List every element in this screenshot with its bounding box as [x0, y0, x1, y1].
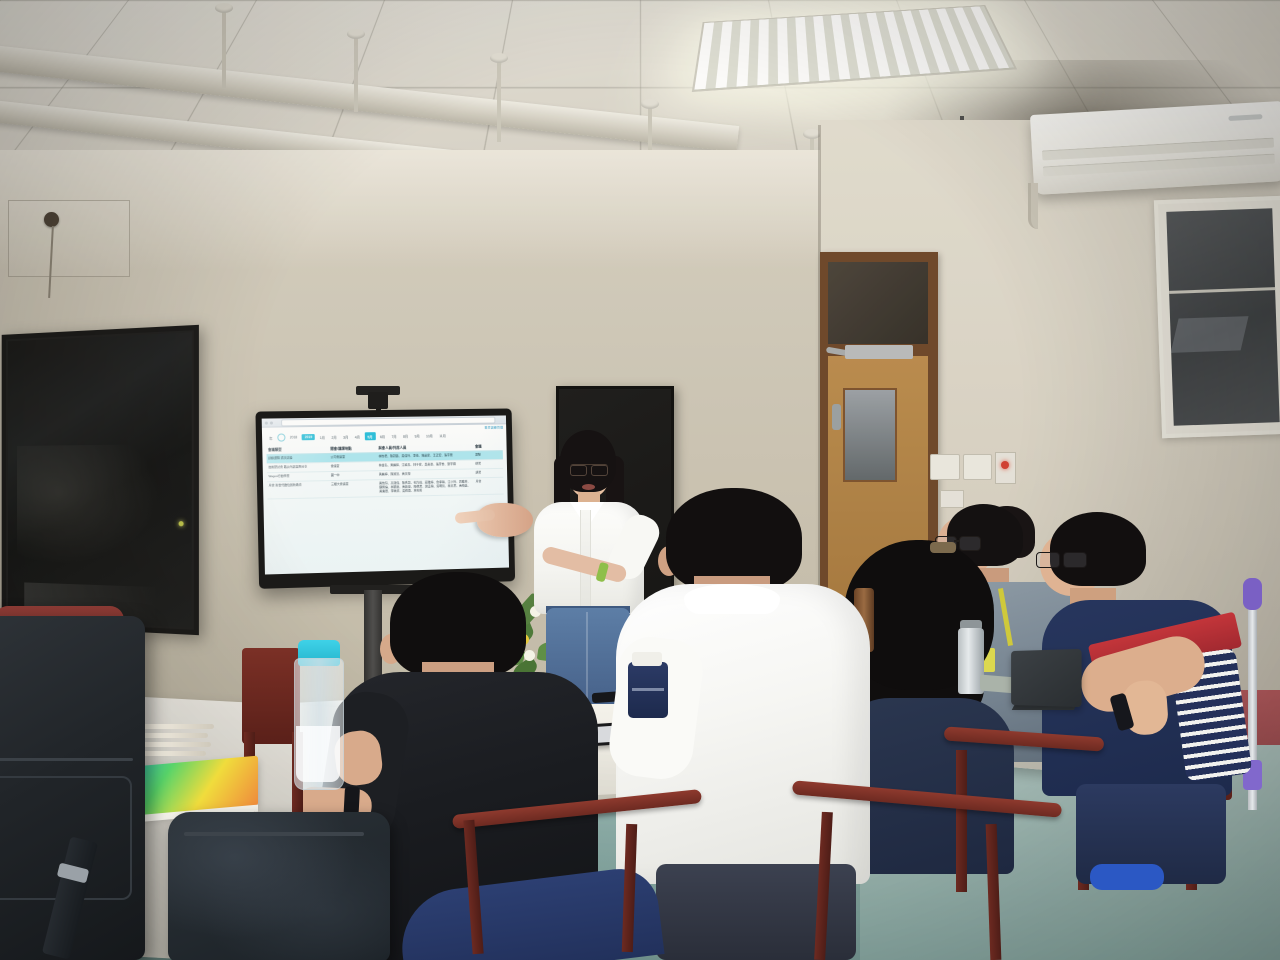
nav-prev-label[interactable]: 年 — [267, 434, 275, 441]
screen-content: 教育訓練管理 年 2018 2019 1月 2月 3月 4月 5月 6月 7月 … — [262, 415, 509, 574]
browser-control-dot — [265, 421, 268, 424]
month-tab-10[interactable]: 10月 — [424, 432, 435, 439]
bag-camouflage[interactable] — [168, 812, 390, 960]
hair-clip — [930, 542, 956, 553]
door-handle[interactable] — [832, 404, 841, 430]
shirt-collar — [684, 584, 780, 614]
month-tab-6[interactable]: 6月 — [378, 432, 387, 439]
cell-attendees: 黃怡瑄、高建偉、陳秀慧、何乃瑜、莊雅婷、詹承翰、江小玲、周雅芬、蘇佩倫、林穎嘉、… — [378, 478, 475, 497]
month-tab-9[interactable]: 9月 — [412, 432, 421, 439]
month-tab-2[interactable]: 2月 — [329, 433, 338, 440]
month-tab-selected[interactable]: 5月 — [364, 432, 375, 440]
month-tab-8[interactable]: 8月 — [401, 432, 410, 439]
light-switch[interactable] — [963, 454, 993, 480]
wall-knob — [44, 212, 59, 227]
chair[interactable] — [792, 776, 1072, 960]
glasses-icon — [570, 464, 608, 474]
left-tv-display[interactable] — [2, 325, 199, 635]
power-led-icon — [179, 521, 184, 526]
month-tab-3[interactable]: 3月 — [341, 433, 350, 440]
browser-control-dot — [270, 421, 273, 424]
light-switch-panel[interactable] — [930, 454, 992, 480]
wall-access-panel — [8, 200, 130, 277]
door-window — [843, 388, 897, 482]
switch-with-indicator[interactable] — [995, 452, 1016, 484]
presenter-hair — [560, 430, 616, 492]
col-header-category: 會議 — [473, 441, 502, 451]
month-tab-1[interactable]: 1月 — [318, 433, 327, 440]
month-tab-7[interactable]: 7月 — [389, 432, 398, 439]
year-tab-selected[interactable]: 2019 — [302, 434, 316, 441]
ac-pipe — [1028, 183, 1038, 229]
cell-meeting-type: 月會 新世代數位創新教育 — [267, 480, 330, 498]
hair — [1050, 512, 1146, 586]
month-tab-11[interactable]: 11月 — [437, 432, 448, 439]
indicator-light — [1001, 461, 1009, 469]
ceiling-hanger — [497, 60, 501, 142]
meeting-schedule-table: 會議類型 開會/講課地點 與會人員/列席人員 會議 訓練課程 週次討論 公司會議… — [266, 441, 503, 499]
ceiling-hanger — [354, 36, 358, 112]
table-row[interactable]: 月會 新世代數位創新教育 三樓大會議室 黃怡瑄、高建偉、陳秀慧、何乃瑜、莊雅婷、… — [267, 477, 504, 499]
glasses-icon — [1036, 552, 1088, 566]
presenter-pointing-hand — [455, 497, 533, 543]
calendar-icon[interactable] — [277, 433, 285, 441]
presenter-mouth — [582, 484, 595, 490]
pencil-pouch[interactable] — [628, 662, 668, 718]
cell-location: 三樓大會議室 — [329, 479, 377, 497]
ceiling-hanger — [222, 10, 226, 88]
air-conditioner — [1030, 101, 1280, 195]
chair[interactable] — [452, 790, 712, 960]
page-module-title: 教育訓練管理 — [485, 425, 504, 429]
mop-grip — [1243, 578, 1262, 610]
month-tab-4[interactable]: 4月 — [353, 433, 362, 440]
cell-category: 月會 — [474, 477, 504, 494]
door-closer — [845, 345, 913, 359]
webcam-icon — [368, 392, 388, 409]
water-bottle-liquid — [296, 726, 340, 782]
tablet-device[interactable] — [1011, 649, 1081, 707]
door-transom-glass — [828, 262, 928, 344]
window — [1154, 196, 1280, 438]
year-tab-2018[interactable]: 2018 — [288, 434, 300, 440]
classroom-scene: 教育訓練管理 年 2018 2019 1月 2月 3月 4月 5月 6月 7月 … — [0, 0, 1280, 960]
light-switch[interactable] — [930, 454, 960, 480]
